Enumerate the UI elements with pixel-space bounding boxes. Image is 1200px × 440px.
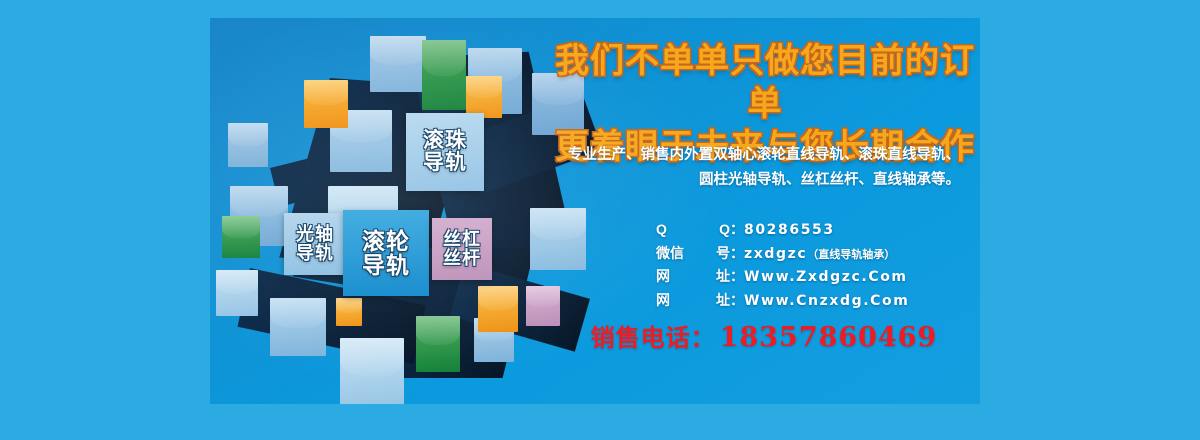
contact-block: Q Q ： 80286553 微信 号 ： zxdgzc （直线导轨轴承） [656, 218, 980, 313]
contact-label-b: 址 [716, 265, 730, 288]
sales-phone-number: 18357860469 [720, 322, 938, 353]
cube-blue-9 [270, 298, 326, 356]
promo-banner: 滚珠 导轨 光轴 导轨 滚轮 导轨 丝杠 丝杆 [210, 18, 980, 404]
product-tile-sigang-sigan[interactable]: 丝杠 丝杆 [432, 218, 492, 280]
contact-row-website-1[interactable]: 网 址 ： Www.Zxdgzc.Com [656, 265, 980, 289]
contact-label-b: 号 [716, 242, 730, 265]
contact-label: 微信 号 [656, 242, 730, 265]
tile-label-line1: 滚珠 [423, 130, 467, 152]
contact-separator: ： [730, 242, 744, 265]
contact-value-website-1: Www.Zxdgzc.Com [744, 266, 908, 289]
cube-green-2 [222, 216, 260, 258]
product-tile-gunzhu-daogui[interactable]: 滚珠 导轨 [406, 113, 484, 191]
page-root: 滚珠 导轨 光轴 导轨 滚轮 导轨 丝杠 丝杆 [0, 0, 1200, 440]
tile-label-line2: 导轨 [423, 152, 467, 174]
contact-value-website-2: Www.Cnzxdg.Com [744, 290, 909, 313]
product-tile-guangzhou-daogui[interactable]: 光轴 导轨 [284, 213, 346, 275]
contact-label-b: Q [719, 218, 730, 241]
contact-label: 网 址 [656, 265, 730, 288]
contact-row-website-2[interactable]: 网 址 ： Www.Cnzxdg.Com [656, 289, 980, 313]
contact-label-b: 址 [716, 289, 730, 312]
contact-label-a: 网 [656, 265, 676, 288]
cube-orange-3 [336, 298, 362, 326]
contact-row-wechat[interactable]: 微信 号 ： zxdgzc （直线导轨轴承） [656, 242, 980, 266]
contact-separator: ： [730, 265, 744, 288]
tile-label-line1: 光轴 [296, 225, 334, 244]
contact-label-a: 微信 [656, 242, 684, 265]
tile-label-line2: 丝杆 [443, 249, 481, 268]
tile-label-line2: 导轨 [296, 244, 334, 263]
contact-value-wechat: zxdgzc [744, 243, 807, 266]
tile-label-line2: 导轨 [362, 253, 410, 277]
cube-orange-2 [466, 76, 502, 118]
cube-green-1 [422, 40, 466, 110]
contact-label: 网 址 [656, 289, 730, 312]
contact-label: Q Q [656, 218, 730, 241]
sales-phone-label: 销售电话： [591, 318, 716, 353]
cube-blue-5 [228, 123, 268, 167]
headline-line-1: 我们不单单只做您目前的订单 [550, 40, 980, 126]
cube-blue-1 [370, 36, 426, 92]
cube-blue-8 [216, 270, 258, 316]
sales-phone[interactable]: 销售电话： 18357860469 [564, 318, 964, 353]
cube-green-3 [416, 316, 460, 372]
contact-separator: ： [730, 289, 744, 312]
contact-row-qq[interactable]: Q Q ： 80286553 [656, 218, 980, 242]
contact-label-a: Q [656, 218, 673, 241]
contact-label-a: 网 [656, 289, 676, 312]
cube-blue-10 [340, 338, 404, 404]
cube-orange-1 [304, 80, 348, 128]
banner-copy-column: 我们不单单只做您目前的订单 更着眼于未来与您长期合作 专业生产、销售内外置双轴心… [550, 18, 980, 404]
contact-separator: ： [730, 218, 744, 241]
tile-label-line1: 丝杠 [443, 230, 481, 249]
cube-cluster-artwork: 滚珠 导轨 光轴 导轨 滚轮 导轨 丝杠 丝杆 [210, 18, 580, 404]
tile-label-line1: 滚轮 [362, 229, 410, 253]
description-text: 专业生产、销售内外置双轴心滚轮直线导轨、滚珠直线导轨、圆柱光轴导轨、丝杠丝杆、直… [568, 143, 960, 193]
cube-orange-4 [478, 286, 518, 332]
contact-value-qq: 80286553 [744, 219, 835, 242]
product-tile-gunlun-daogui[interactable]: 滚轮 导轨 [343, 210, 429, 296]
contact-note-wechat: （直线导轨轴承） [807, 247, 895, 265]
